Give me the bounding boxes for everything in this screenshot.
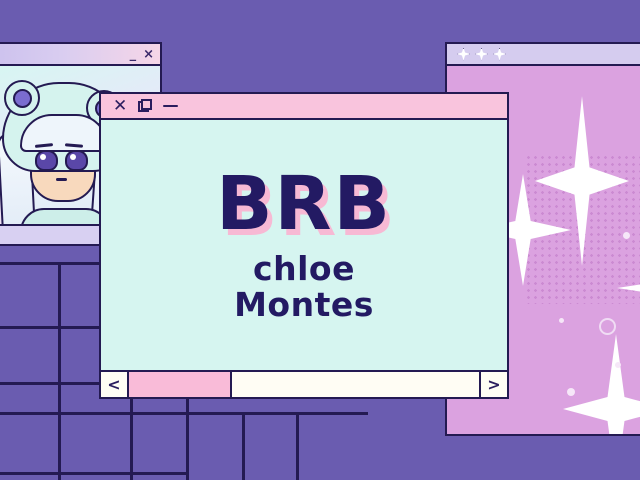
avatar-bear-ear-inner (13, 89, 32, 108)
avatar-bangs (20, 114, 108, 152)
close-icon[interactable]: × (143, 48, 154, 61)
avatar-eye (65, 150, 88, 171)
horizontal-scrollbar[interactable]: < > (101, 372, 507, 397)
sparkle-window-titlebar[interactable] (447, 44, 640, 66)
grid-line-vertical (296, 412, 299, 480)
brb-window[interactable]: ✕ BRB chloe Montes < > (99, 92, 509, 399)
avatar-window-titlebar[interactable]: _ × (0, 44, 160, 66)
brb-window-body: BRB chloe Montes (101, 120, 507, 372)
ring-dot-icon (599, 318, 616, 335)
diamond-icon (493, 48, 506, 61)
scroll-left-button[interactable]: < (101, 372, 129, 397)
username-line-2: Montes (234, 287, 374, 323)
username-line-1: chloe (253, 249, 355, 288)
brb-window-titlebar[interactable]: ✕ (101, 94, 507, 120)
avatar-eye (35, 150, 58, 171)
grid-line-horizontal (0, 472, 188, 475)
screen: _ × ✕ (0, 0, 640, 480)
avatar-eye-shine (70, 154, 76, 160)
avatar-bear-ear (4, 80, 40, 116)
avatar-eye-shine (40, 154, 46, 160)
grid-line-vertical (242, 412, 245, 480)
scrollbar-track[interactable] (129, 372, 479, 397)
grid-line-horizontal (0, 412, 368, 415)
dot-icon (615, 362, 621, 368)
scrollbar-thumb[interactable] (129, 372, 232, 397)
avatar-mouth (56, 178, 67, 181)
dot-icon (567, 388, 575, 396)
grid-line-vertical (58, 262, 61, 480)
username-block: chloe Montes (234, 251, 374, 322)
minimize-icon[interactable]: _ (130, 48, 137, 61)
diamond-icon (475, 48, 488, 61)
sparkle-star-icon (563, 334, 640, 434)
brb-headline: BRB (216, 167, 392, 241)
minimize-icon[interactable] (163, 105, 178, 108)
dot-icon (623, 232, 630, 239)
diamond-icon (457, 48, 470, 61)
maximize-icon[interactable] (138, 99, 152, 113)
close-icon[interactable]: ✕ (113, 98, 127, 115)
scroll-right-button[interactable]: > (479, 372, 507, 397)
dot-icon (559, 318, 564, 323)
